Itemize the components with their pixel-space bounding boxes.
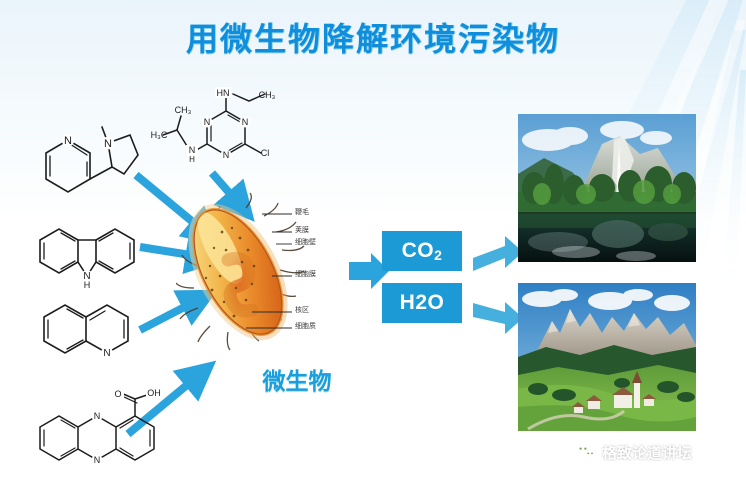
slide-title: 用微生物降解环境污染物 <box>0 14 746 60</box>
molecule-atrazine: N N N HN CH₃ N H CH₃ H₃C Cl <box>155 86 273 176</box>
atom-label-h3c: H₃C <box>151 130 168 140</box>
microbe-label-cell-wall: 细胞壁 <box>295 238 316 246</box>
atom-label-h: H <box>84 280 91 290</box>
atom-label-n: N <box>189 145 196 155</box>
watermark: 格致论道讲坛 <box>575 440 692 464</box>
molecule-quinoline: N <box>36 293 138 365</box>
product-formula-co2: CO <box>402 239 435 263</box>
product-box-co2: CO2 <box>382 231 462 271</box>
product-subscript-co2: 2 <box>434 247 442 263</box>
microbe-caption: 微生物 <box>232 362 362 396</box>
photo-lake-reflection <box>518 114 696 262</box>
product-box-h2o: H2O <box>382 283 462 323</box>
watermark-text: 格致论道讲坛 <box>602 442 692 463</box>
microbe-label-cell-membrane: 细胞膜 <box>295 270 316 278</box>
atom-label-n: N <box>64 135 72 147</box>
microbe-label-nucleoid: 核区 <box>295 306 309 314</box>
atom-label-o: O <box>114 389 121 399</box>
product-formula-h2o: H2O <box>400 291 445 315</box>
atom-label-n: N <box>104 138 112 150</box>
wechat-icon <box>575 442 597 462</box>
atom-label-hn: HN <box>217 88 230 98</box>
microbe-label-flagellum: 鞭毛 <box>295 208 309 216</box>
molecule-phenazine-carboxylic-acid: N N O OH <box>34 393 159 471</box>
photo-alpine-village <box>518 283 696 431</box>
atom-label-cl: Cl <box>261 148 270 158</box>
atom-label-n: N <box>223 150 230 160</box>
molecule-carbazole: N H <box>32 218 142 288</box>
slide-canvas: 用微生物降解环境污染物 <box>0 0 746 479</box>
atom-label-h: H <box>189 155 195 164</box>
atom-label-ch3: CH₃ <box>259 90 276 100</box>
atom-label-n: N <box>204 117 211 127</box>
microbe-label-capsule: 荚膜 <box>295 226 309 234</box>
atom-label-oh: OH <box>147 388 161 398</box>
molecule-nicotine: N N <box>34 122 139 198</box>
microbe-label-cytoplasm: 细胞质 <box>295 322 316 330</box>
atom-label-ch3: CH₃ <box>175 105 192 115</box>
atom-label-n: N <box>94 411 101 421</box>
atom-label-n: N <box>242 117 249 127</box>
atom-label-n: N <box>94 455 101 465</box>
microbe-illustration: 鞭毛 荚膜 细胞壁 细胞膜 核区 细胞质 <box>176 192 366 367</box>
atom-label-n: N <box>103 348 110 359</box>
